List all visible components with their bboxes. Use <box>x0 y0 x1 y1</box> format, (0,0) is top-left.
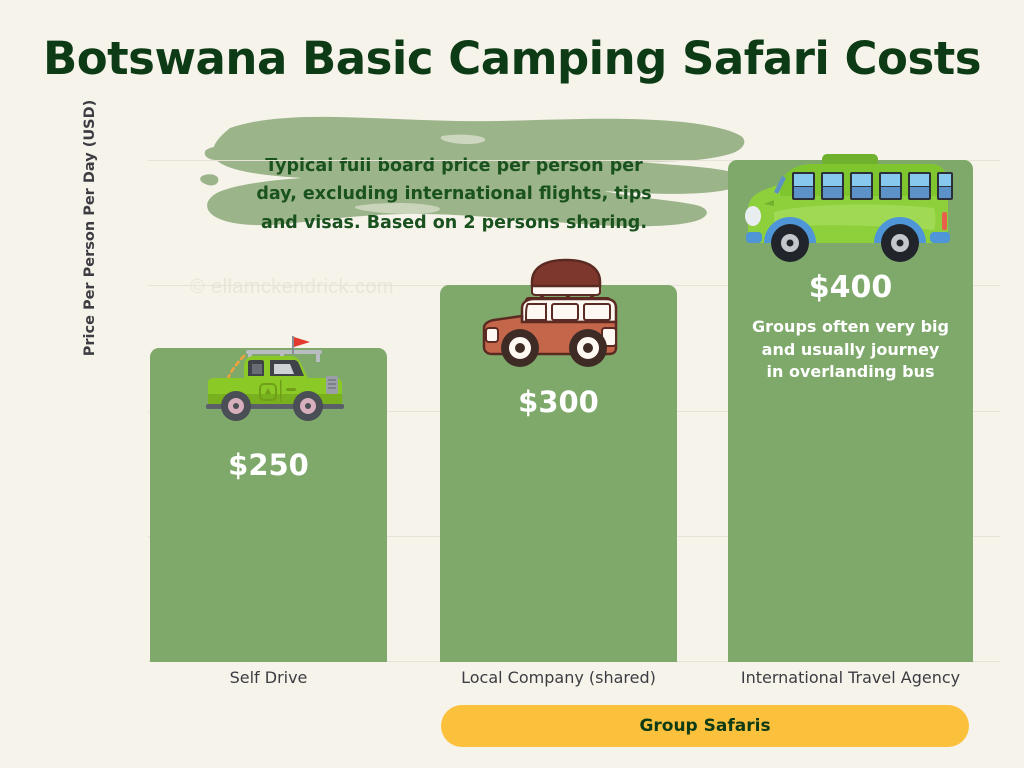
safari-jeep-icon <box>190 336 350 426</box>
overlanding-bus-icon <box>734 150 979 270</box>
x-label-self-drive: Self Drive <box>150 668 387 687</box>
bar-value-self-drive: $250 <box>150 448 387 482</box>
bar-value-international-travel-agency: $400 <box>728 270 973 305</box>
x-label-international-travel-agency: International Travel Agency <box>728 668 973 687</box>
bar-value-local-company: $300 <box>440 385 677 419</box>
rooftop-tent-suv-icon <box>470 256 660 381</box>
plot-area: Price Per Person Per Day (USD) 400 300 2… <box>148 160 1000 662</box>
group-safaris-pill[interactable]: Group Safaris <box>441 705 969 747</box>
bar-note-international-travel-agency: Groups often very big and usually journe… <box>728 316 973 384</box>
infographic-canvas: Botswana Basic Camping Safari Costs Typi… <box>0 0 1024 768</box>
y-axis-title: Price Per Person Per Day (USD) <box>82 78 98 378</box>
page-title: Botswana Basic Camping Safari Costs <box>0 32 1024 85</box>
x-label-local-company: Local Company (shared) <box>440 668 677 687</box>
group-safaris-label: Group Safaris <box>639 716 770 736</box>
